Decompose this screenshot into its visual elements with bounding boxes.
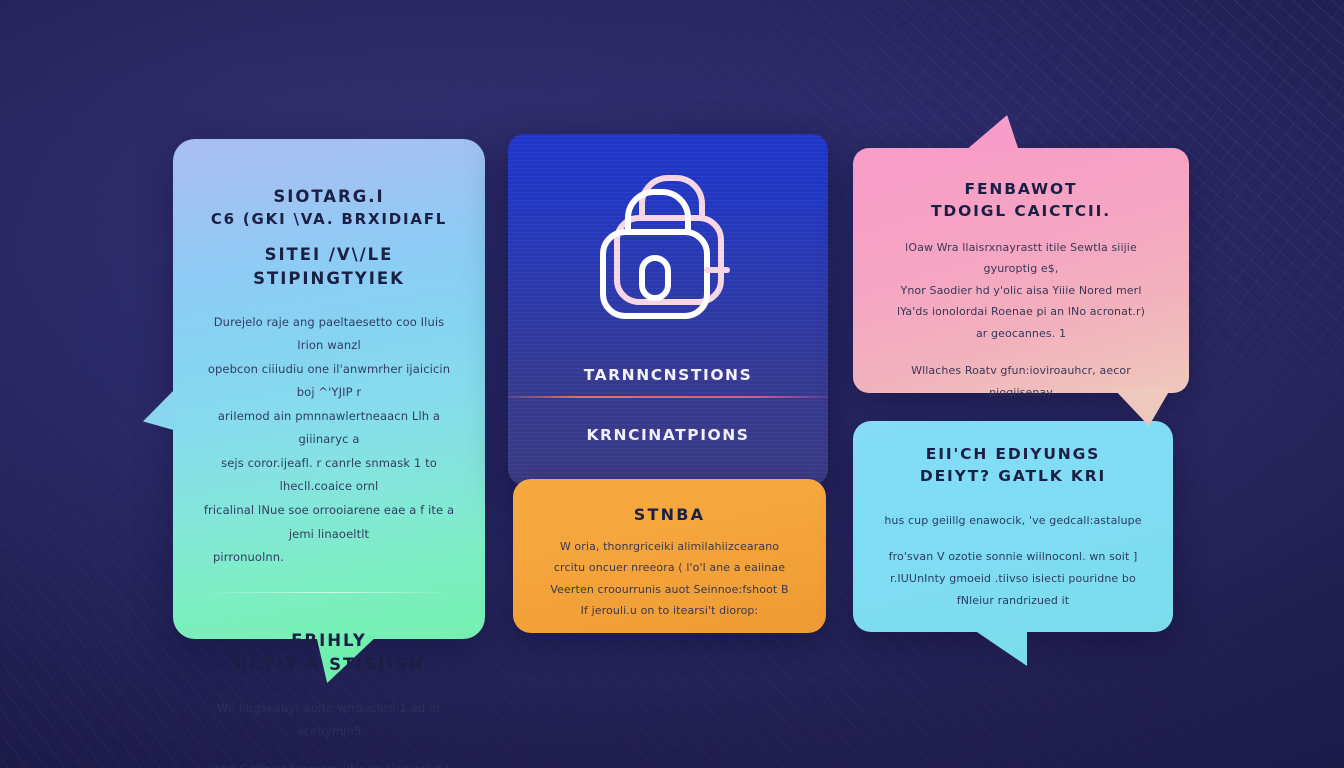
- body-line: opebcon ciiiudiu one il'anwmrher ijaicic…: [199, 358, 459, 405]
- center-card-divider: [508, 396, 828, 398]
- body-line: Durejelo raje ang paeltaesetto coo Iluis…: [199, 311, 459, 358]
- pink-card-body: lOaw Wra llaisrxnayrastt itile SewtIa si…: [879, 237, 1163, 403]
- body-line: ariIemod ain pmnnawlertneaacn Llh a giii…: [199, 405, 459, 452]
- cyan-card-heading-line-1: EII'CH EDIYUNGS: [877, 443, 1149, 465]
- left-card-heading-group: SIOTARG.I C6 (GKI \VA. BRXIDIAFL SITEI /…: [199, 185, 459, 291]
- body-line: lOaw Wra llaisrxnayrastt itile SewtIa si…: [879, 237, 1163, 280]
- body-line: lYa'ds ionolordai Roenae pi an lNo acron…: [879, 301, 1163, 322]
- body-line: Wllaches Roatv gfun:ioviroauhcr, aecor p…: [879, 360, 1163, 403]
- center-card-label-secondary: KRNCINATPIONS: [587, 426, 750, 444]
- body-line: If jerouli.u on to itearsi't diorop:: [535, 600, 804, 621]
- cyan-card-body: hus cup geiillg enawocik, 've gedcall:as…: [877, 510, 1149, 612]
- orange-card-title: STNBA: [535, 505, 804, 524]
- body-line: Ynor Saodier hd y'olic aisa Yiiie Nored …: [879, 280, 1163, 301]
- padlock-icon: [585, 166, 751, 342]
- left-card-body-primary: Durejelo raje ang paeltaesetto coo Iluis…: [199, 311, 459, 570]
- left-card-section-primary: SIOTARG.I C6 (GKI \VA. BRXIDIAFL SITEI /…: [199, 185, 459, 570]
- body-line: W oria, thonrgriceiki alimilahiizcearano: [535, 536, 804, 557]
- pink-speech-bubble-card[interactable]: FENBAWOT TDOIGL CAICTCII. lOaw Wra llais…: [853, 148, 1189, 393]
- body-line: r.IUUnInty gmoeid .tiivso isiecti pourid…: [877, 568, 1149, 590]
- body-line: I'cbo Gelte sedeosram iiNc ds sloaieel.d…: [199, 758, 459, 768]
- left-card-divider: [203, 592, 455, 593]
- cyan-card-heading-line-2: DEIYT? GATLK KRI: [877, 465, 1149, 487]
- body-line: hus cup geiillg enawocik, 've gedcall:as…: [877, 510, 1149, 532]
- cyan-card-heading-group: EII'CH EDIYUNGS DEIYT? GATLK KRI: [877, 443, 1149, 488]
- body-line: sejs coror.ijeafl. r canrle snmask 1 to …: [199, 452, 459, 499]
- orange-callout-card[interactable]: STNBA W oria, thonrgriceiki alimilahiizc…: [513, 479, 826, 633]
- body-line: Wli Iingseauyr aolte wrrdeclird 1 ad er …: [199, 697, 459, 744]
- left-card-heading-line-3: SITEI /V\/LE STIPINGTYIEK: [199, 243, 459, 291]
- body-line: crcitu oncuer nreeora ( l'o'l ane a eaii…: [535, 557, 804, 578]
- pink-card-heading-line-2: TDOIGL CAICTCII.: [879, 200, 1163, 222]
- cyan-speech-bubble-card[interactable]: EII'CH EDIYUNGS DEIYT? GATLK KRI hus cup…: [853, 421, 1173, 632]
- orange-card-body: W oria, thonrgriceiki alimilahiizcearano…: [535, 536, 804, 622]
- center-card-label-primary: TARNNCNSTIONS: [584, 366, 753, 384]
- body-line: fricalinal lNue soe orrooiarene eae a f …: [199, 499, 459, 546]
- left-card-heading-line-2: C6 (GKI \VA. BRXIDIAFL: [199, 209, 459, 231]
- left-card-heading-group-2: FRIHLY HCTIY A STISIISH: [199, 629, 459, 677]
- left-card-subheading-line-1: FRIHLY: [199, 629, 459, 653]
- body-line: ar geocannes. 1: [879, 323, 1163, 344]
- pink-card-heading-line-1: FENBAWOT: [879, 178, 1163, 200]
- pink-card-heading-group: FENBAWOT TDOIGL CAICTCII.: [879, 178, 1163, 223]
- body-line: fro'svan V ozotie sonnie wiilnoconl. wn …: [877, 546, 1149, 568]
- left-card-body-secondary: Wli Iingseauyr aolte wrrdeclird 1 ad er …: [199, 697, 459, 768]
- body-line: fNleiur randrizued it: [877, 590, 1149, 612]
- body-line: pirronuolnn.: [199, 546, 459, 570]
- left-info-card[interactable]: SIOTARG.I C6 (GKI \VA. BRXIDIAFL SITEI /…: [173, 139, 485, 639]
- body-line: Veerten croourrunis auot Seinnoe:fshoot …: [535, 579, 804, 600]
- center-feature-card[interactable]: TARNNCNSTIONS KRNCINATPIONS: [508, 134, 828, 485]
- left-card-subheading-line-2: HCTIY A STISIISH: [199, 653, 459, 677]
- left-card-heading-line-1: SIOTARG.I: [199, 185, 459, 209]
- left-card-section-secondary: FRIHLY HCTIY A STISIISH Wli Iingseauyr a…: [199, 629, 459, 768]
